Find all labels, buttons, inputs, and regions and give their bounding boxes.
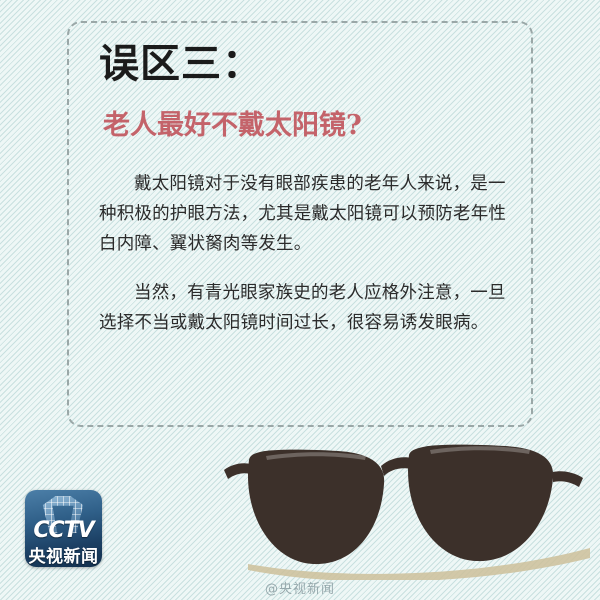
body-paragraph-1: 戴太阳镜对于没有眼部疾患的老年人来说，是一种积极的护眼方法，尤其是戴太阳镜可以预… (99, 169, 513, 259)
poster-canvas: 误区三： 老人最好不戴太阳镜? 戴太阳镜对于没有眼部疾患的老年人来说，是一种积极… (0, 0, 600, 600)
cctv-brand-text: CCTV (25, 518, 102, 543)
subtitle-question: 老人最好不戴太阳镜? (103, 109, 513, 143)
body-paragraph-2: 当然，有青光眼家族史的老人应格外注意，一旦选择不当或戴太阳镜时间过长，很容易诱发… (99, 278, 513, 338)
card-inner: 误区三： 老人最好不戴太阳镜? 戴太阳镜对于没有眼部疾患的老年人来说，是一种积极… (99, 41, 513, 338)
cctv-channel-name: 央视新闻 (25, 542, 102, 567)
content-card: 误区三： 老人最好不戴太阳镜? 戴太阳镜对于没有眼部疾患的老年人来说，是一种积极… (67, 21, 533, 427)
cctv-news-logo: CCTV 央视新闻 (25, 490, 102, 567)
page-title: 误区三： (99, 41, 513, 87)
sunglasses-illustration (218, 438, 600, 580)
glasses-frame-icon (224, 445, 583, 564)
watermark: @央视新闻 (0, 578, 600, 597)
